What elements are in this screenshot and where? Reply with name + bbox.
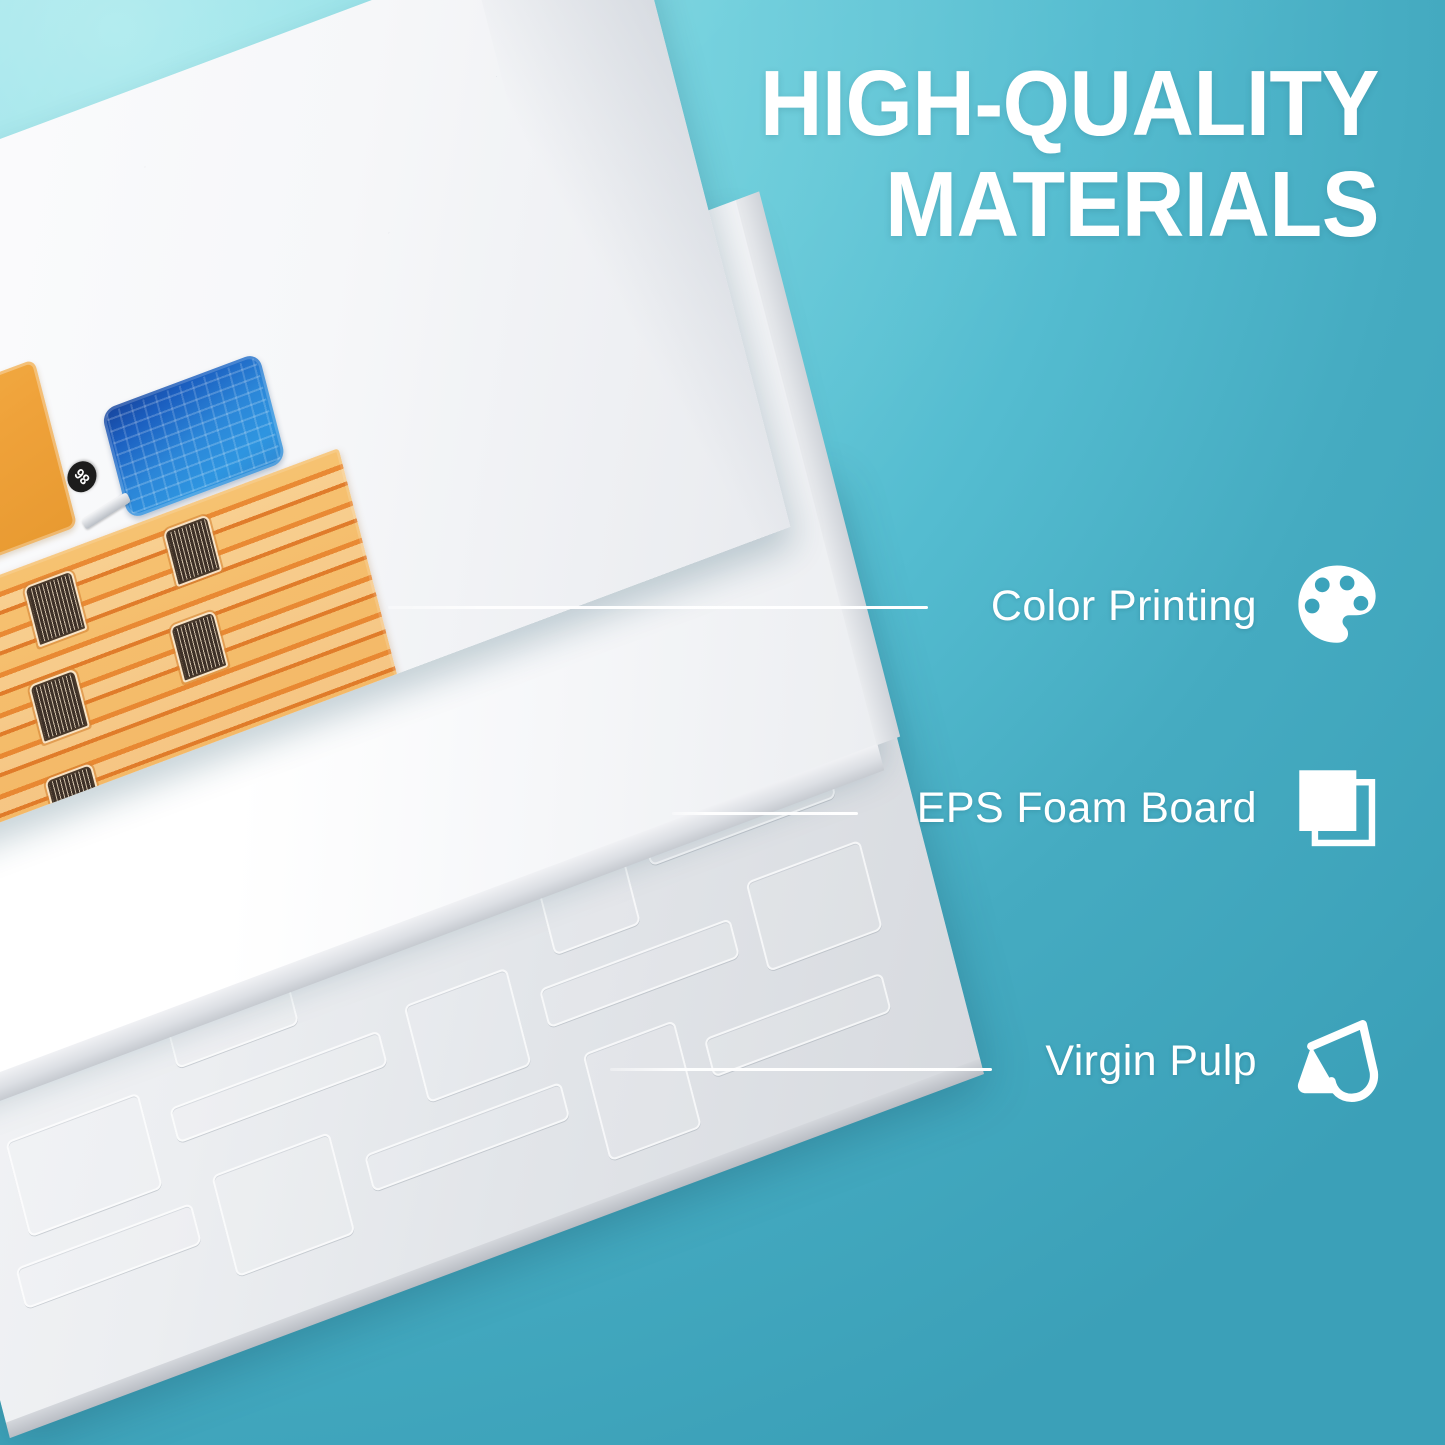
palette-icon xyxy=(1291,560,1383,652)
headline-line-1: HIGH-QUALITY xyxy=(672,58,1379,149)
leader-line-virgin-pulp xyxy=(610,1068,992,1071)
facade-window xyxy=(165,517,220,585)
facade-window xyxy=(26,572,86,645)
leader-line-eps-foam-board xyxy=(672,812,858,815)
page-title: HIGH-QUALITY MATERIALS xyxy=(619,58,1379,250)
feature-eps-foam-board: EPS Foam Board xyxy=(917,762,1383,854)
leader-line-color-printing xyxy=(388,606,928,609)
headline-line-2: MATERIALS xyxy=(672,159,1379,250)
feature-color-printing: Color Printing xyxy=(991,560,1383,652)
curled-paper-icon xyxy=(1291,1015,1383,1107)
feature-virgin-pulp: Virgin Pulp xyxy=(1045,1015,1383,1107)
facade-window xyxy=(31,671,88,742)
feature-label-color-printing: Color Printing xyxy=(991,582,1257,631)
feature-label-eps-foam-board: EPS Foam Board xyxy=(917,784,1257,833)
stacked-sheets-icon xyxy=(1291,762,1383,854)
facade-window xyxy=(171,613,226,681)
feature-label-virgin-pulp: Virgin Pulp xyxy=(1045,1037,1257,1086)
product-layer-stack: 84 86 xyxy=(0,120,840,1445)
poster-canvas: 84 86 HIGH-Q xyxy=(0,0,1445,1445)
